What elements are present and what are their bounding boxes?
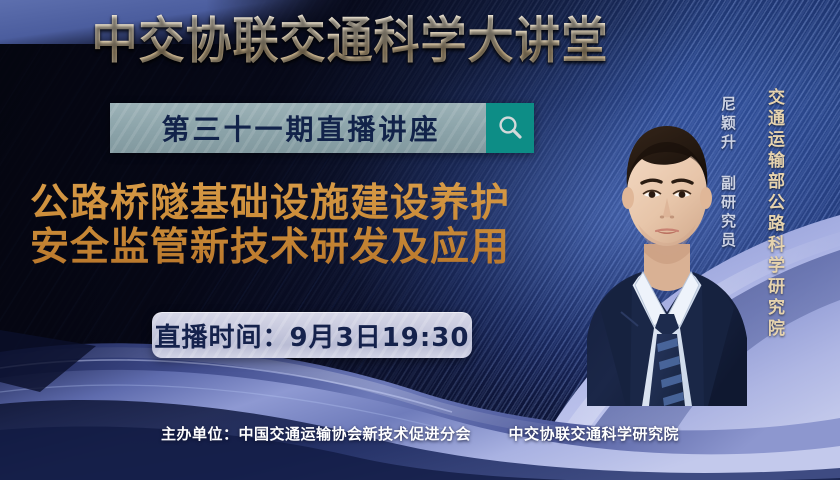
episode-label: 第三十一期直播讲座: [110, 103, 486, 153]
headline-line-1: 公路桥隧基础设施建设养护: [30, 182, 590, 226]
speaker-organization: 交通运输部公路科学研究院: [762, 88, 787, 340]
search-icon[interactable]: [486, 103, 534, 153]
footer-organizer-label: 主办单位：中国交通运输协会新技术促进分会: [161, 425, 471, 443]
speaker-name-title: 尼颖升 副研究员: [718, 96, 739, 251]
lecture-headline: 公路桥隧基础设施建设养护 安全监管新技术研发及应用: [30, 182, 590, 270]
broadcast-time-badge: 直播时间：9月3日19:30: [152, 312, 472, 358]
webinar-poster: 中交协联交通科学大讲堂 第三十一期直播讲座 公路桥隧基础设施建设养护 安全监管新…: [0, 0, 840, 480]
footer-organizers: 主办单位：中国交通运输协会新技术促进分会 中交协联交通科学研究院: [0, 423, 840, 444]
footer-co-organizer: 中交协联交通科学研究院: [508, 425, 679, 443]
page-title: 中交协联交通科学大讲堂: [0, 10, 700, 70]
episode-banner: 第三十一期直播讲座: [110, 103, 534, 153]
headline-line-2: 安全监管新技术研发及应用: [30, 226, 590, 270]
